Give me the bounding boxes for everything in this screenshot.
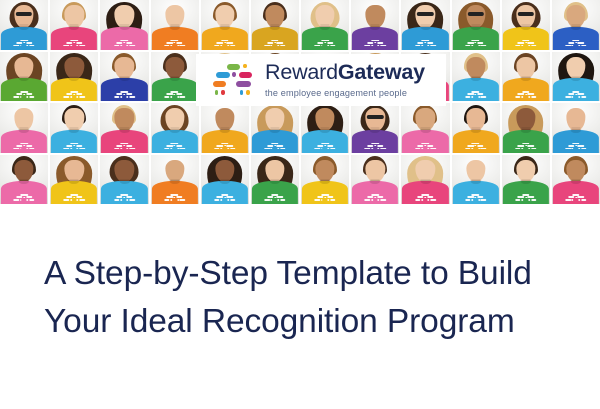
logo-mark-pill [239, 72, 252, 78]
portrait-tshirt [452, 78, 498, 101]
document-content: A Step-by-Step Template to Build Your Id… [0, 204, 600, 345]
photo-tile [201, 0, 249, 50]
portrait-tshirt [503, 27, 549, 50]
photo-tile [251, 103, 299, 153]
photo-tile [251, 0, 299, 50]
photo-tile [0, 155, 48, 205]
photo-tile [0, 0, 48, 50]
photo-tile [401, 103, 449, 153]
photo-tile [50, 155, 98, 205]
portrait-tshirt [503, 78, 549, 101]
portrait-tshirt [202, 130, 248, 153]
photo-tile [502, 155, 550, 205]
tshirt-logo-mark-icon [164, 40, 185, 48]
tshirt-logo-mark-icon [314, 143, 335, 151]
logo-mark-pill [236, 81, 250, 87]
portrait-tshirt [202, 181, 248, 204]
portrait-tshirt [101, 130, 147, 153]
page-title: A Step-by-Step Template to Build Your Id… [44, 250, 544, 345]
photo-tile [301, 103, 349, 153]
logo-tagline: the employee engagement people [265, 89, 425, 98]
logo-mark-pill [227, 64, 240, 70]
tshirt-logo-mark-icon [515, 40, 536, 48]
photo-tile [452, 103, 500, 153]
portrait-tshirt [51, 27, 97, 50]
logo-mark-dot [243, 64, 247, 68]
portrait-tshirt [352, 27, 398, 50]
photo-tile [401, 0, 449, 50]
sunglasses-icon [367, 115, 383, 119]
wordmark-reward: Reward [265, 60, 338, 84]
tshirt-logo-mark-icon [365, 143, 386, 151]
portrait-tshirt [51, 130, 97, 153]
tshirt-logo-mark-icon [515, 194, 536, 202]
tshirt-logo-mark-icon [264, 194, 285, 202]
photo-tile [201, 103, 249, 153]
photo-tile [151, 52, 199, 102]
tshirt-logo-mark-icon [365, 40, 386, 48]
logo-mark-dot [221, 90, 225, 94]
photo-tile [50, 52, 98, 102]
logo-mark-dot [215, 90, 219, 94]
tshirt-logo-mark-icon [13, 194, 34, 202]
tshirt-logo-mark-icon [164, 143, 185, 151]
portrait-tshirt [202, 27, 248, 50]
portrait-tshirt [252, 27, 298, 50]
tshirt-logo-mark-icon [264, 143, 285, 151]
portrait-tshirt [151, 130, 197, 153]
tshirt-logo-mark-icon [465, 91, 486, 99]
portrait-tshirt [452, 27, 498, 50]
tshirt-logo-mark-icon [13, 143, 34, 151]
tshirt-logo-mark-icon [314, 194, 335, 202]
photo-tile [452, 155, 500, 205]
portrait-tshirt [452, 130, 498, 153]
photo-tile [452, 0, 500, 50]
portrait-tshirt [553, 130, 599, 153]
tshirt-logo-mark-icon [64, 40, 85, 48]
portrait-tshirt [1, 181, 47, 204]
photo-tile [552, 0, 600, 50]
tshirt-logo-mark-icon [114, 40, 135, 48]
logo-mark-dot [246, 90, 250, 94]
tshirt-logo-mark-icon [415, 194, 436, 202]
photo-tile [100, 103, 148, 153]
portrait-tshirt [252, 181, 298, 204]
tshirt-logo-mark-icon [565, 91, 586, 99]
portrait-tshirt [101, 78, 147, 101]
wordmark-gateway: Gateway [338, 60, 425, 84]
portrait-tshirt [302, 27, 348, 50]
tshirt-logo-mark-icon [515, 91, 536, 99]
photo-tile [0, 52, 48, 102]
photo-tile [401, 155, 449, 205]
photo-tile [151, 155, 199, 205]
sunglasses-icon [518, 12, 534, 16]
tshirt-logo-mark-icon [465, 40, 486, 48]
portrait-tshirt [1, 78, 47, 101]
portrait-tshirt [151, 27, 197, 50]
portrait-tshirt [302, 181, 348, 204]
tshirt-logo-mark-icon [415, 143, 436, 151]
tshirt-logo-mark-icon [264, 40, 285, 48]
logo-mark-pill [213, 81, 226, 87]
photo-tile [502, 52, 550, 102]
portrait-tshirt [553, 181, 599, 204]
tshirt-logo-mark-icon [214, 194, 235, 202]
photo-tile [351, 0, 399, 50]
tshirt-logo-mark-icon [64, 143, 85, 151]
photo-tile [50, 103, 98, 153]
tshirt-logo-mark-icon [415, 40, 436, 48]
portrait-tshirt [51, 181, 97, 204]
tshirt-logo-mark-icon [114, 143, 135, 151]
photo-tile [151, 0, 199, 50]
logo-mark-dot [232, 72, 236, 77]
photo-tile [502, 103, 550, 153]
logo-wordmark: RewardGateway the employee engagement pe… [265, 62, 425, 98]
portrait-tshirt [101, 181, 147, 204]
portrait-tshirt [503, 181, 549, 204]
portrait-tshirt [1, 130, 47, 153]
portrait-tshirt [151, 78, 197, 101]
photo-tile [251, 155, 299, 205]
portrait-tshirt [553, 78, 599, 101]
portrait-tshirt [302, 130, 348, 153]
tshirt-logo-mark-icon [13, 40, 34, 48]
tshirt-logo-mark-icon [64, 194, 85, 202]
photo-tile [50, 0, 98, 50]
tshirt-logo-mark-icon [565, 194, 586, 202]
photo-tile [0, 103, 48, 153]
tshirt-logo-mark-icon [565, 40, 586, 48]
tshirt-logo-mark-icon [114, 194, 135, 202]
tshirt-logo-mark-icon [565, 143, 586, 151]
tshirt-logo-mark-icon [114, 91, 135, 99]
portrait-tshirt [402, 27, 448, 50]
portrait-tshirt [51, 78, 97, 101]
photo-tile [552, 155, 600, 205]
photo-tile [502, 0, 550, 50]
portrait-tshirt [402, 181, 448, 204]
portrait-tshirt [503, 130, 549, 153]
portrait-tshirt [101, 27, 147, 50]
portrait-tshirt [352, 130, 398, 153]
tshirt-logo-mark-icon [13, 91, 34, 99]
reward-gateway-logo: RewardGateway the employee engagement pe… [196, 54, 446, 106]
photo-tile [552, 103, 600, 153]
tshirt-logo-mark-icon [314, 40, 335, 48]
photo-tile [452, 52, 500, 102]
tshirt-logo-mark-icon [465, 143, 486, 151]
portrait-tshirt [151, 181, 197, 204]
portrait-tshirt [553, 27, 599, 50]
tshirt-logo-mark-icon [214, 143, 235, 151]
portrait-tshirt [452, 181, 498, 204]
photo-tile [301, 155, 349, 205]
photo-tile [351, 103, 399, 153]
hero-banner: RewardGateway the employee engagement pe… [0, 0, 600, 204]
photo-tile [201, 155, 249, 205]
photo-tile [301, 0, 349, 50]
photo-tile [100, 0, 148, 50]
portrait-tshirt [1, 27, 47, 50]
portrait-tshirt [352, 181, 398, 204]
photo-tile [151, 103, 199, 153]
photo-tile [552, 52, 600, 102]
portrait-tshirt [402, 130, 448, 153]
photo-tile [100, 155, 148, 205]
photo-tile [100, 52, 148, 102]
tshirt-logo-mark-icon [64, 91, 85, 99]
tshirt-logo-mark-icon [465, 194, 486, 202]
tshirt-logo-mark-icon [365, 194, 386, 202]
tshirt-logo-mark-icon [164, 194, 185, 202]
photo-tile [351, 155, 399, 205]
wordmark-row: RewardGateway [265, 62, 425, 84]
sunglasses-icon [16, 12, 32, 16]
tshirt-logo-mark-icon [164, 91, 185, 99]
reward-gateway-speech-bubble-mark [212, 63, 254, 97]
logo-mark-pill [216, 72, 230, 78]
portrait-tshirt [252, 130, 298, 153]
sunglasses-icon [417, 12, 433, 16]
logo-mark-dot [240, 90, 244, 94]
tshirt-logo-mark-icon [515, 143, 536, 151]
tshirt-logo-mark-icon [214, 40, 235, 48]
sunglasses-icon [467, 12, 483, 16]
